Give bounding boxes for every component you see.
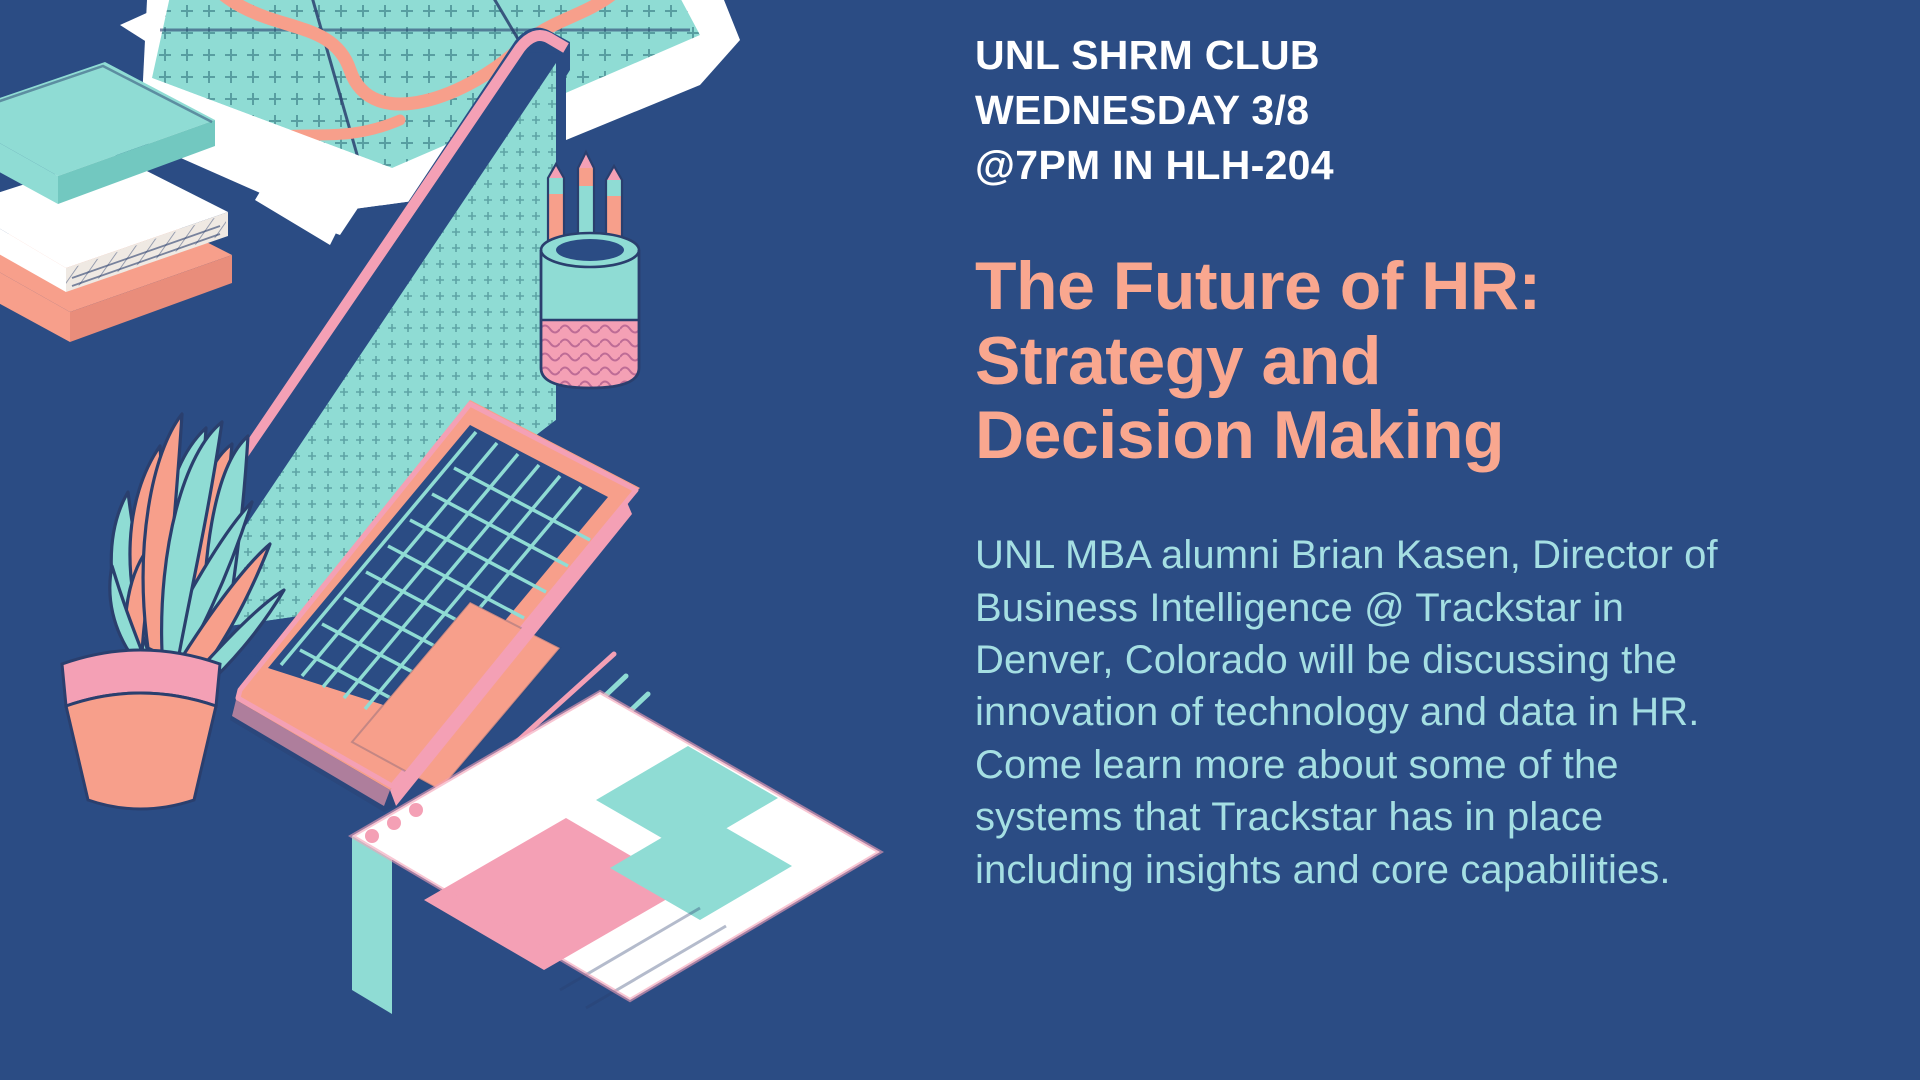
description-line-5: Come learn more about some of the bbox=[975, 739, 1855, 791]
location-line: @7PM IN HLH-204 bbox=[975, 138, 1920, 193]
description-line-3: Denver, Colorado will be discussing the bbox=[975, 634, 1855, 686]
event-title-line-3: Decision Making bbox=[975, 398, 1920, 473]
description-line-7: including insights and core capabilities… bbox=[975, 844, 1855, 896]
org-line: UNL SHRM CLUB bbox=[975, 28, 1920, 83]
description-line-4: innovation of technology and data in HR. bbox=[975, 686, 1855, 738]
event-text-column: UNL SHRM CLUB WEDNESDAY 3/8 @7PM IN HLH-… bbox=[975, 0, 1920, 1080]
description-line-2: Business Intelligence @ Trackstar in bbox=[975, 582, 1855, 634]
event-title-line-2: Strategy and bbox=[975, 324, 1920, 399]
event-flyer: UNL SHRM CLUB WEDNESDAY 3/8 @7PM IN HLH-… bbox=[0, 0, 1920, 1080]
description-line-1: UNL MBA alumni Brian Kasen, Director of bbox=[975, 529, 1855, 581]
event-meta-block: UNL SHRM CLUB WEDNESDAY 3/8 @7PM IN HLH-… bbox=[975, 28, 1920, 193]
date-line: WEDNESDAY 3/8 bbox=[975, 83, 1920, 138]
event-description: UNL MBA alumni Brian Kasen, Director of … bbox=[975, 529, 1855, 896]
desk-illustration bbox=[0, 0, 960, 1080]
event-title-line-1: The Future of HR: bbox=[975, 249, 1920, 324]
event-title: The Future of HR: Strategy and Decision … bbox=[975, 249, 1920, 473]
description-line-6: systems that Trackstar has in place bbox=[975, 791, 1855, 843]
